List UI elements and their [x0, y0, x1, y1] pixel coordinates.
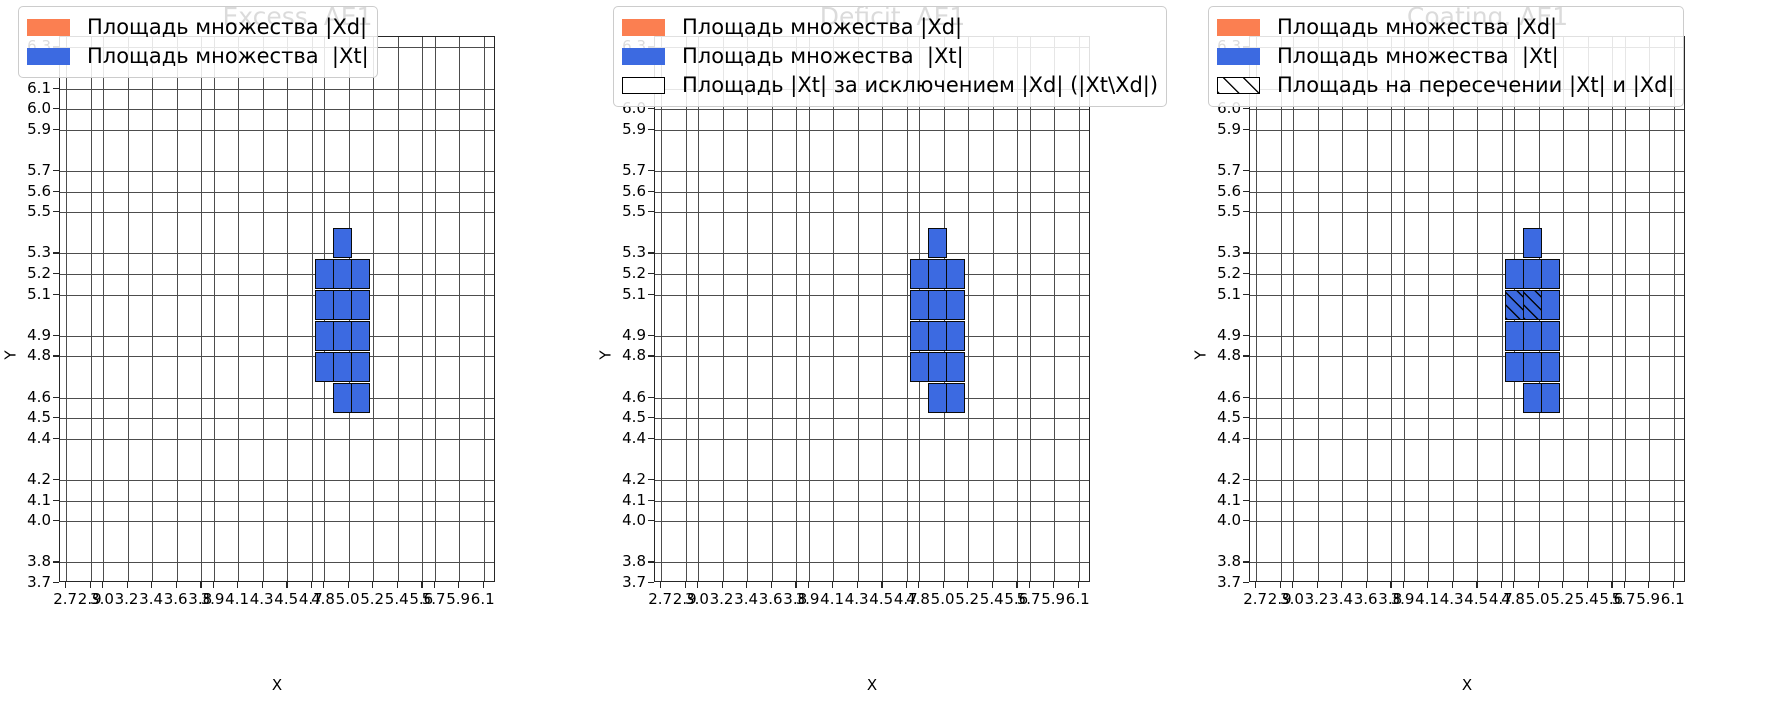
y-tick-label: 3.8 [602, 552, 646, 570]
x-tick-mark [906, 582, 907, 588]
x-tick-mark [1390, 582, 1391, 588]
x-tick-mark [483, 582, 484, 588]
x-tick-mark [1476, 582, 1477, 588]
x-tick-label: 6.1 [1066, 590, 1090, 608]
x-tick-mark [881, 582, 882, 588]
y-tick-mark [53, 582, 59, 583]
data-cell-xt [1541, 290, 1560, 320]
y-tick-mark [648, 438, 654, 439]
y-tick-label: 4.4 [602, 429, 646, 447]
x-tick-mark [722, 582, 723, 588]
x-tick-mark [1366, 582, 1367, 588]
data-cell-xt [315, 352, 334, 382]
y-tick-mark [53, 355, 59, 356]
y-tick-mark [648, 582, 654, 583]
x-tick-mark [1624, 582, 1625, 588]
x-tick-mark [1673, 582, 1674, 588]
x-tick-mark [1029, 582, 1030, 588]
data-cell-xt [333, 259, 352, 289]
data-cell-xt [1523, 352, 1542, 382]
x-tick-mark [1292, 582, 1293, 588]
y-tick-mark [53, 273, 59, 274]
x-tick-label: 5.0 [931, 590, 955, 608]
y-tick-mark [1243, 417, 1249, 418]
y-tick-mark [648, 397, 654, 398]
panel-coating: Coating. AE1 Y X Площадь множества |Xd| … [1190, 0, 1785, 709]
data-cells [60, 37, 494, 581]
x-tick-label: 5.2 [955, 590, 979, 608]
y-tick-mark [648, 129, 654, 130]
x-tick-mark [967, 582, 968, 588]
data-cell-xt [1523, 228, 1542, 258]
y-tick-mark [53, 88, 59, 89]
y-tick-label: 5.2 [602, 264, 646, 282]
data-cell-xt [1541, 321, 1560, 351]
y-tick-label: 5.1 [1197, 285, 1241, 303]
y-tick-mark [648, 108, 654, 109]
x-tick-mark [992, 582, 993, 588]
x-tick-label: 6.1 [1661, 590, 1685, 608]
x-tick-mark [1538, 582, 1539, 588]
y-tick-mark [53, 417, 59, 418]
x-tick-label: 3.6 [759, 590, 783, 608]
x-tick-label: 6.1 [471, 590, 495, 608]
data-cell-xt [910, 259, 929, 289]
legend-label: Площадь множества |Xd| [682, 17, 962, 38]
x-tick-mark [1611, 582, 1612, 588]
x-tick-label: 3.2 [1305, 590, 1329, 608]
data-cell-xt [1523, 383, 1542, 413]
y-tick-label: 4.0 [1197, 511, 1241, 529]
y-tick-label: 4.0 [7, 511, 51, 529]
y-tick-mark [1243, 170, 1249, 171]
x-tick-mark [1562, 582, 1563, 588]
data-cell-xt [946, 290, 965, 320]
x-tick-mark [200, 582, 201, 588]
x-tick-mark [808, 582, 809, 588]
y-tick-label: 4.1 [1197, 491, 1241, 509]
x-tick-mark [1452, 582, 1453, 588]
data-cell-xt [333, 352, 352, 382]
y-tick-mark [53, 294, 59, 295]
y-tick-mark [53, 170, 59, 171]
panel-excess: Excess. AE1 Y X Площадь множества |Xd| П… [0, 0, 595, 709]
x-tick-label: 4.5 [869, 590, 893, 608]
x-tick-label: 5.4 [1575, 590, 1599, 608]
data-cell-xt [928, 352, 947, 382]
y-tick-mark [1243, 582, 1249, 583]
y-tick-label: 6.1 [7, 79, 51, 97]
y-tick-label: 4.6 [602, 388, 646, 406]
y-tick-label: 5.6 [1197, 182, 1241, 200]
legend-item: Площадь на пересечении |Xt| и |Xd| [1217, 71, 1675, 100]
legend-deficit: Площадь множества |Xd| Площадь множества… [613, 6, 1167, 107]
y-tick-mark [1243, 273, 1249, 274]
y-tick-label: 5.2 [1197, 264, 1241, 282]
plot-area-coating [1249, 36, 1685, 582]
x-tick-mark [857, 582, 858, 588]
y-tick-mark [1243, 355, 1249, 356]
data-cell-xt [351, 383, 370, 413]
x-tick-label: 2.7 [53, 590, 77, 608]
data-cell-xt [928, 290, 947, 320]
x-tick-mark [1427, 582, 1428, 588]
y-tick-label: 4.6 [1197, 388, 1241, 406]
data-cell-xt [928, 383, 947, 413]
y-tick-mark [53, 520, 59, 521]
legend-item: Площадь множества |Xd| [27, 13, 369, 42]
legend-label: Площадь множества |Xt| [87, 46, 369, 67]
x-tick-mark [660, 582, 661, 588]
y-tick-label: 4.8 [7, 346, 51, 364]
y-tick-label: 4.4 [7, 429, 51, 447]
y-tick-mark [1243, 191, 1249, 192]
y-tick-label: 3.8 [7, 552, 51, 570]
data-cell-xt [315, 321, 334, 351]
y-tick-mark [1243, 479, 1249, 480]
data-cell-xt [946, 352, 965, 382]
legend-label: Площадь на пересечении |Xt| и |Xd| [1277, 75, 1675, 96]
legend-swatch-xd-icon [1217, 19, 1260, 36]
x-tick-mark [943, 582, 944, 588]
data-cell-xt [351, 321, 370, 351]
y-tick-label: 4.1 [602, 491, 646, 509]
y-tick-label: 5.7 [7, 161, 51, 179]
x-tick-label: 4.3 [845, 590, 869, 608]
y-tick-mark [648, 335, 654, 336]
x-tick-label: 5.7 [1612, 590, 1636, 608]
data-cell-xt [351, 290, 370, 320]
data-cell-xt [315, 259, 334, 289]
y-tick-label: 4.9 [602, 326, 646, 344]
data-cell-xt [1523, 321, 1542, 351]
y-tick-mark [53, 500, 59, 501]
legend-coating: Площадь множества |Xd| Площадь множества… [1208, 6, 1684, 107]
data-cell-xt [928, 321, 947, 351]
x-tick-mark [262, 582, 263, 588]
data-cell-xt [910, 352, 929, 382]
x-tick-label: 2.7 [1243, 590, 1267, 608]
y-tick-mark [1243, 252, 1249, 253]
data-cell-xt [928, 228, 947, 258]
x-tick-label: 3.0 [685, 590, 709, 608]
y-tick-mark [648, 500, 654, 501]
legend-item: Площадь множества |Xd| [622, 13, 1158, 42]
y-tick-mark [1243, 129, 1249, 130]
x-axis-label-excess: X [59, 676, 495, 694]
y-tick-label: 4.5 [602, 408, 646, 426]
x-tick-mark [1053, 582, 1054, 588]
legend-excess: Площадь множества |Xd| Площадь множества… [18, 6, 378, 78]
y-tick-label: 5.3 [602, 243, 646, 261]
legend-label: Площадь множества |Xd| [87, 17, 367, 38]
x-tick-label: 5.2 [360, 590, 384, 608]
y-tick-label: 5.7 [1197, 161, 1241, 179]
x-tick-mark [213, 582, 214, 588]
legend-swatch-xd-icon [622, 19, 665, 36]
legend-label: Площадь множества |Xt| [682, 46, 964, 67]
y-tick-mark [1243, 438, 1249, 439]
x-tick-mark [151, 582, 152, 588]
x-tick-mark [771, 582, 772, 588]
x-tick-label: 4.8 [906, 590, 930, 608]
x-tick-label: 3.0 [1280, 590, 1304, 608]
y-tick-mark [648, 273, 654, 274]
x-tick-label: 3.2 [710, 590, 734, 608]
x-tick-label: 3.4 [1329, 590, 1353, 608]
x-tick-label: 3.9 [201, 590, 225, 608]
y-tick-mark [648, 561, 654, 562]
legend-label: Площадь |Xt| за исключением |Xd| (|Xt\Xd… [682, 75, 1158, 96]
legend-item: Площадь множества |Xd| [1217, 13, 1675, 42]
y-tick-label: 5.7 [602, 161, 646, 179]
x-tick-mark [1078, 582, 1079, 588]
y-tick-label: 5.9 [602, 120, 646, 138]
y-tick-mark [1243, 500, 1249, 501]
x-tick-mark [1255, 582, 1256, 588]
y-tick-mark [53, 561, 59, 562]
data-cell-xt [1505, 352, 1524, 382]
x-tick-label: 4.1 [225, 590, 249, 608]
y-tick-label: 4.5 [1197, 408, 1241, 426]
x-tick-label: 4.3 [250, 590, 274, 608]
x-tick-mark [176, 582, 177, 588]
y-tick-mark [648, 355, 654, 356]
y-tick-mark [53, 252, 59, 253]
x-tick-label: 5.4 [385, 590, 409, 608]
y-tick-mark [53, 397, 59, 398]
x-tick-mark [1317, 582, 1318, 588]
x-tick-label: 5.2 [1550, 590, 1574, 608]
x-tick-label: 3.9 [1391, 590, 1415, 608]
y-tick-label: 5.1 [7, 285, 51, 303]
x-tick-mark [1403, 582, 1404, 588]
y-tick-mark [53, 191, 59, 192]
y-tick-label: 5.5 [1197, 202, 1241, 220]
x-tick-label: 3.6 [164, 590, 188, 608]
x-tick-mark [1513, 582, 1514, 588]
y-tick-label: 4.9 [1197, 326, 1241, 344]
y-tick-mark [53, 335, 59, 336]
data-cell-xt [1541, 383, 1560, 413]
y-tick-label: 4.5 [7, 408, 51, 426]
data-cell-xt [333, 228, 352, 258]
x-tick-mark [348, 582, 349, 588]
x-tick-mark [832, 582, 833, 588]
y-tick-mark [648, 211, 654, 212]
figure-root: Excess. AE1 Y X Площадь множества |Xd| П… [0, 0, 1787, 709]
x-tick-mark [65, 582, 66, 588]
x-tick-label: 5.9 [1636, 590, 1660, 608]
y-tick-label: 5.3 [7, 243, 51, 261]
y-tick-mark [53, 129, 59, 130]
data-cell-xt [333, 321, 352, 351]
legend-item: Площадь множества |Xt| [27, 42, 369, 71]
x-tick-label: 5.0 [1526, 590, 1550, 608]
y-tick-mark [1243, 561, 1249, 562]
y-tick-label: 3.7 [1197, 573, 1241, 591]
y-tick-label: 5.5 [602, 202, 646, 220]
x-tick-label: 3.2 [115, 590, 139, 608]
x-tick-label: 3.4 [734, 590, 758, 608]
y-tick-label: 5.9 [1197, 120, 1241, 138]
x-tick-label: 4.1 [1415, 590, 1439, 608]
y-tick-mark [53, 479, 59, 480]
x-tick-label: 5.4 [980, 590, 1004, 608]
y-tick-label: 6.0 [7, 99, 51, 117]
y-tick-label: 5.9 [7, 120, 51, 138]
x-tick-label: 3.4 [139, 590, 163, 608]
y-tick-mark [1243, 108, 1249, 109]
data-cell-xt [928, 259, 947, 289]
y-tick-mark [1243, 397, 1249, 398]
x-tick-mark [918, 582, 919, 588]
x-tick-mark [795, 582, 796, 588]
data-cell-xt [1505, 321, 1524, 351]
y-tick-mark [648, 479, 654, 480]
y-tick-mark [1243, 520, 1249, 521]
data-cell-intersection [1505, 290, 1524, 320]
data-cell-xt [333, 290, 352, 320]
y-tick-label: 5.2 [7, 264, 51, 282]
x-tick-mark [323, 582, 324, 588]
data-cell-xt [1541, 259, 1560, 289]
x-tick-mark [286, 582, 287, 588]
data-cell-xt [1505, 259, 1524, 289]
legend-item: Площадь множества |Xt| [622, 42, 1158, 71]
legend-item: Площадь множества |Xt| [1217, 42, 1675, 71]
x-tick-mark [372, 582, 373, 588]
y-tick-label: 5.6 [7, 182, 51, 200]
data-cell-xt [910, 290, 929, 320]
x-tick-mark [421, 582, 422, 588]
legend-item: Площадь |Xt| за исключением |Xd| (|Xt\Xd… [622, 71, 1158, 100]
data-cell-xt [351, 259, 370, 289]
x-tick-mark [127, 582, 128, 588]
y-tick-mark [648, 252, 654, 253]
y-tick-label: 5.6 [602, 182, 646, 200]
x-tick-label: 5.7 [1017, 590, 1041, 608]
x-tick-mark [237, 582, 238, 588]
y-tick-mark [53, 438, 59, 439]
x-tick-label: 2.7 [648, 590, 672, 608]
y-tick-mark [648, 417, 654, 418]
y-tick-label: 4.1 [7, 491, 51, 509]
y-tick-mark [1243, 335, 1249, 336]
y-tick-label: 4.8 [602, 346, 646, 364]
x-tick-label: 4.1 [820, 590, 844, 608]
y-tick-mark [648, 520, 654, 521]
data-cell-xt [910, 321, 929, 351]
y-tick-label: 5.3 [1197, 243, 1241, 261]
x-tick-label: 3.0 [90, 590, 114, 608]
x-tick-label: 4.5 [274, 590, 298, 608]
legend-label: Площадь множества |Xd| [1277, 17, 1557, 38]
x-tick-mark [102, 582, 103, 588]
x-tick-label: 5.0 [336, 590, 360, 608]
y-tick-label: 3.7 [7, 573, 51, 591]
x-tick-mark [746, 582, 747, 588]
x-tick-mark [1280, 582, 1281, 588]
data-cell-xt [333, 383, 352, 413]
y-tick-label: 3.7 [602, 573, 646, 591]
x-tick-label: 3.6 [1354, 590, 1378, 608]
data-cell-xt [946, 383, 965, 413]
y-tick-mark [648, 170, 654, 171]
y-tick-label: 4.0 [602, 511, 646, 529]
x-tick-mark [1341, 582, 1342, 588]
x-tick-label: 4.8 [311, 590, 335, 608]
y-tick-label: 4.2 [602, 470, 646, 488]
y-tick-label: 5.5 [7, 202, 51, 220]
y-tick-label: 4.6 [7, 388, 51, 406]
y-tick-label: 4.8 [1197, 346, 1241, 364]
x-tick-mark [434, 582, 435, 588]
legend-swatch-difference-icon [622, 77, 665, 94]
x-tick-mark [1587, 582, 1588, 588]
legend-swatch-xt-icon [622, 48, 665, 65]
x-tick-mark [458, 582, 459, 588]
x-tick-label: 4.3 [1440, 590, 1464, 608]
legend-swatch-intersection-icon [1217, 77, 1260, 94]
data-cells [655, 37, 1089, 581]
data-cell-xt [351, 352, 370, 382]
x-tick-mark [311, 582, 312, 588]
plot-area-deficit [654, 36, 1090, 582]
x-tick-mark [1501, 582, 1502, 588]
x-tick-label: 5.9 [446, 590, 470, 608]
x-axis-label-deficit: X [654, 676, 1090, 694]
y-tick-label: 5.1 [602, 285, 646, 303]
y-tick-mark [648, 191, 654, 192]
y-tick-label: 4.2 [1197, 470, 1241, 488]
x-tick-label: 4.5 [1464, 590, 1488, 608]
y-tick-mark [53, 108, 59, 109]
legend-label: Площадь множества |Xt| [1277, 46, 1559, 67]
y-tick-mark [1243, 294, 1249, 295]
y-tick-mark [648, 294, 654, 295]
y-tick-mark [1243, 211, 1249, 212]
x-tick-label: 5.9 [1041, 590, 1065, 608]
y-tick-label: 4.4 [1197, 429, 1241, 447]
y-tick-label: 3.8 [1197, 552, 1241, 570]
x-tick-mark [697, 582, 698, 588]
x-tick-label: 3.9 [796, 590, 820, 608]
panel-deficit: Deficit. AE1 Y X Площадь множества |Xd| … [595, 0, 1190, 709]
x-tick-mark [397, 582, 398, 588]
data-cells [1250, 37, 1684, 581]
data-cell-xt [1541, 352, 1560, 382]
legend-swatch-xt-icon [1217, 48, 1260, 65]
data-cell-intersection [1523, 290, 1542, 320]
plot-area-excess [59, 36, 495, 582]
x-tick-label: 5.7 [422, 590, 446, 608]
x-tick-label: 4.8 [1501, 590, 1525, 608]
data-cell-xt [946, 259, 965, 289]
x-tick-mark [1016, 582, 1017, 588]
legend-swatch-xd-icon [27, 19, 70, 36]
data-cell-xt [1523, 259, 1542, 289]
x-tick-mark [1648, 582, 1649, 588]
x-axis-label-coating: X [1249, 676, 1685, 694]
legend-swatch-xt-icon [27, 48, 70, 65]
data-cell-xt [315, 290, 334, 320]
y-tick-label: 4.9 [7, 326, 51, 344]
x-tick-mark [685, 582, 686, 588]
data-cell-xt [946, 321, 965, 351]
x-tick-mark [90, 582, 91, 588]
y-tick-label: 4.2 [7, 470, 51, 488]
